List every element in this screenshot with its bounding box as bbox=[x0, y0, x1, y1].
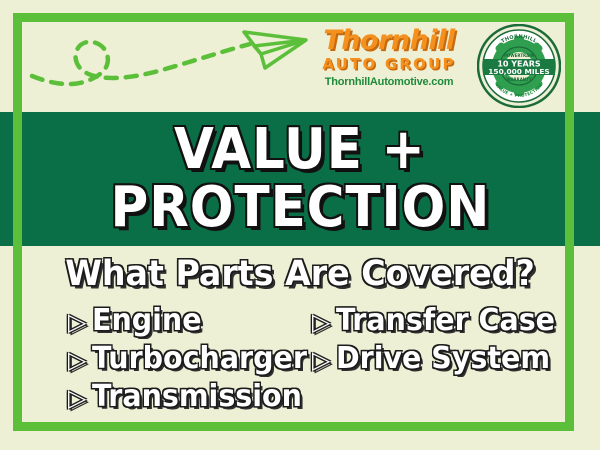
covered-part-label: Engine bbox=[92, 304, 202, 338]
badge-warranty-text: WARRANTY bbox=[506, 77, 532, 82]
triangle-bullet-icon: ▷ bbox=[68, 310, 86, 334]
triangle-bullet-icon: ▷ bbox=[312, 348, 330, 372]
logo-website-url: ThornhillAutomotive.com bbox=[313, 75, 465, 89]
covered-part-label: Turbocharger bbox=[92, 342, 307, 376]
warranty-badge: THORNHILL VALUE + PROTECTION POWERTRAIN … bbox=[477, 24, 561, 108]
triangle-bullet-icon: ▷ bbox=[68, 348, 86, 372]
headline-line-1: VALUE + bbox=[174, 121, 426, 179]
covered-parts-left-column: ▷ Engine ▷ Turbocharger ▷ Transmission bbox=[0, 304, 300, 418]
headline-section: VALUE + PROTECTION bbox=[0, 112, 600, 246]
dashed-loop-arrow-doodle bbox=[22, 14, 322, 104]
list-item: ▷ Drive System bbox=[312, 342, 600, 380]
covered-part-label: Transmission bbox=[92, 380, 302, 414]
list-item: ▷ Transfer Case bbox=[312, 304, 600, 342]
poster-canvas: Thornhill AUTO GROUP ThornhillAutomotive… bbox=[0, 0, 600, 450]
logo-wordmark: Thornhill bbox=[313, 26, 465, 56]
covered-parts-columns: ▷ Engine ▷ Turbocharger ▷ Transmission ▷… bbox=[0, 304, 600, 418]
list-item: ▷ Engine bbox=[68, 304, 300, 342]
logo-subtitle: AUTO GROUP bbox=[313, 56, 465, 73]
covered-parts-right-column: ▷ Transfer Case ▷ Drive System bbox=[300, 304, 600, 418]
headline-line-2: PROTECTION bbox=[110, 179, 490, 237]
header-section: Thornhill AUTO GROUP ThornhillAutomotive… bbox=[0, 0, 600, 112]
covered-parts-question: What Parts Are Covered? bbox=[15, 254, 585, 294]
triangle-bullet-icon: ▷ bbox=[312, 310, 330, 334]
triangle-bullet-icon: ▷ bbox=[68, 386, 86, 410]
covered-part-label: Transfer Case bbox=[336, 304, 555, 338]
badge-miles-text: 150,000 MILES bbox=[488, 67, 549, 76]
list-item: ▷ Transmission bbox=[68, 380, 300, 418]
badge-powertrain-text: POWERTRAIN bbox=[504, 53, 534, 58]
covered-parts-section: What Parts Are Covered? ▷ Engine ▷ Turbo… bbox=[0, 246, 600, 450]
list-item: ▷ Turbocharger bbox=[68, 342, 300, 380]
thornhill-logo: Thornhill AUTO GROUP ThornhillAutomotive… bbox=[313, 26, 465, 104]
covered-part-label: Drive System bbox=[336, 342, 550, 376]
